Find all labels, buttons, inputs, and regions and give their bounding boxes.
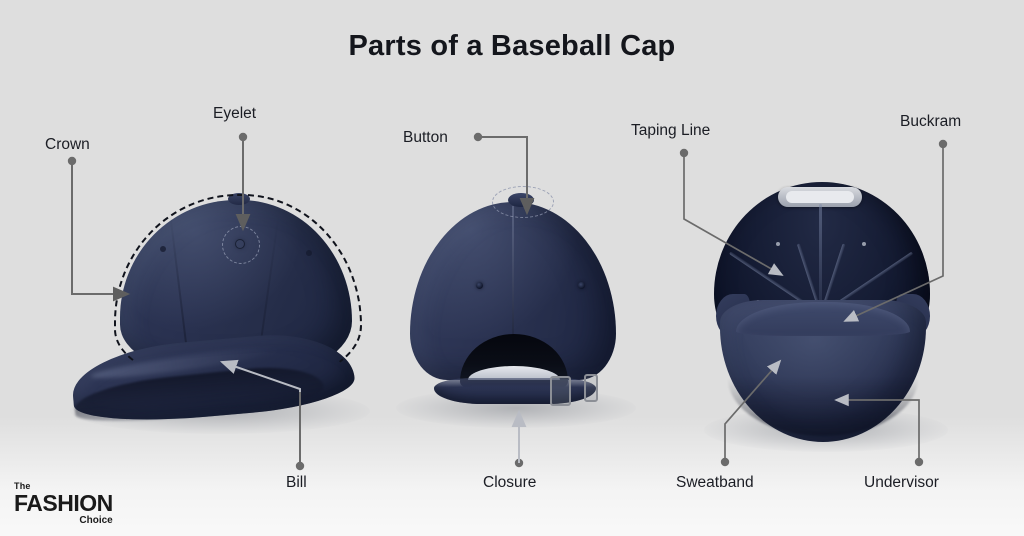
label-closure: Closure [483,474,536,492]
leader-crown [68,157,128,294]
leader-line-layer [0,0,1024,536]
logo-line-choice: Choice [14,516,113,526]
label-sweatband: Sweatband [676,474,754,492]
leader-closure [515,412,523,467]
leader-sweatband [721,361,780,466]
leader-buckram [845,140,947,321]
label-button: Button [403,129,448,147]
label-crown: Crown [45,136,90,154]
leader-bill [222,362,304,470]
label-buckram: Buckram [900,113,961,131]
logo-line-fashion: FASHION [14,492,113,515]
brand-logo: The FASHION Choice [14,482,113,526]
leader-eyelet [239,133,247,229]
leader-button [474,133,527,213]
label-eyelet: Eyelet [213,105,256,123]
infographic-canvas: Parts of a Baseball Cap [0,0,1024,536]
leader-undervisor [836,400,923,466]
label-bill: Bill [286,474,307,492]
label-undervisor: Undervisor [864,474,939,492]
label-taping-line: Taping Line [631,122,710,140]
page-title: Parts of a Baseball Cap [0,30,1024,63]
leader-taping-line [680,149,782,275]
